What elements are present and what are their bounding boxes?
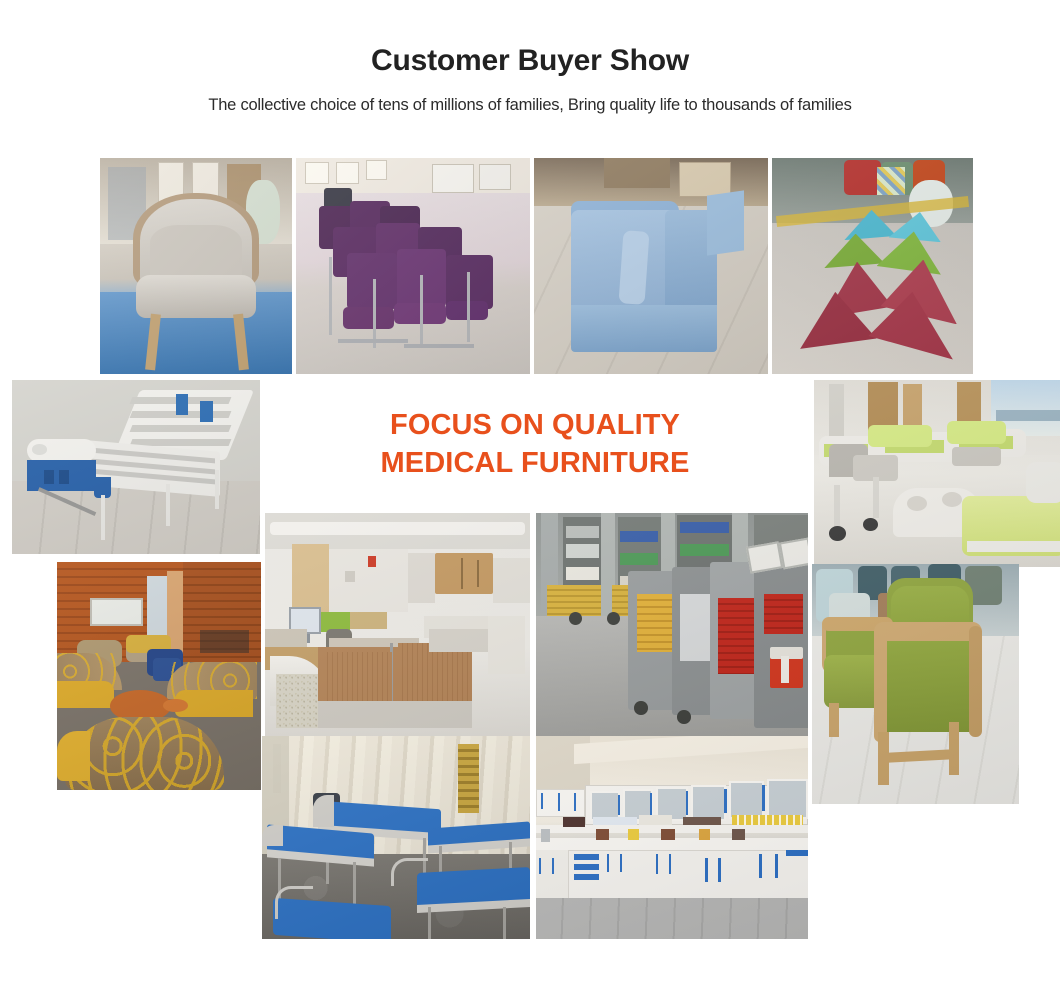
- photo-green-wood-armchair[interactable]: [812, 564, 1019, 804]
- photo-lab-cabinet-wall[interactable]: [536, 736, 808, 939]
- photo-manual-hospital-bed[interactable]: [12, 380, 260, 554]
- photo-green-hospital-ward[interactable]: [814, 380, 1060, 567]
- page-title: Customer Buyer Show: [0, 44, 1060, 79]
- page-subtitle: The collective choice of tens of million…: [0, 96, 1060, 115]
- slogan-line-1: FOCUS ON QUALITY: [390, 406, 680, 444]
- header: Customer Buyer Show The collective choic…: [0, 0, 1060, 115]
- photo-colored-triangle-stools[interactable]: [772, 158, 973, 374]
- slogan-line-2: MEDICAL FURNITURE: [381, 444, 690, 482]
- photo-orange-lounge-seating[interactable]: [57, 562, 261, 790]
- photo-supply-room-carts[interactable]: [536, 513, 808, 737]
- photo-blue-exam-beds[interactable]: [262, 736, 530, 939]
- buyer-show-page: Customer Buyer Show The collective choic…: [0, 0, 1060, 988]
- photo-grey-tub-armchair[interactable]: [100, 158, 292, 374]
- photo-nurse-station-counter[interactable]: [265, 513, 530, 737]
- photo-purple-waiting-chairs[interactable]: [296, 158, 530, 374]
- photo-blue-reception-sofa[interactable]: [534, 158, 768, 374]
- slogan-block: FOCUS ON QUALITY MEDICAL FURNITURE: [262, 378, 808, 510]
